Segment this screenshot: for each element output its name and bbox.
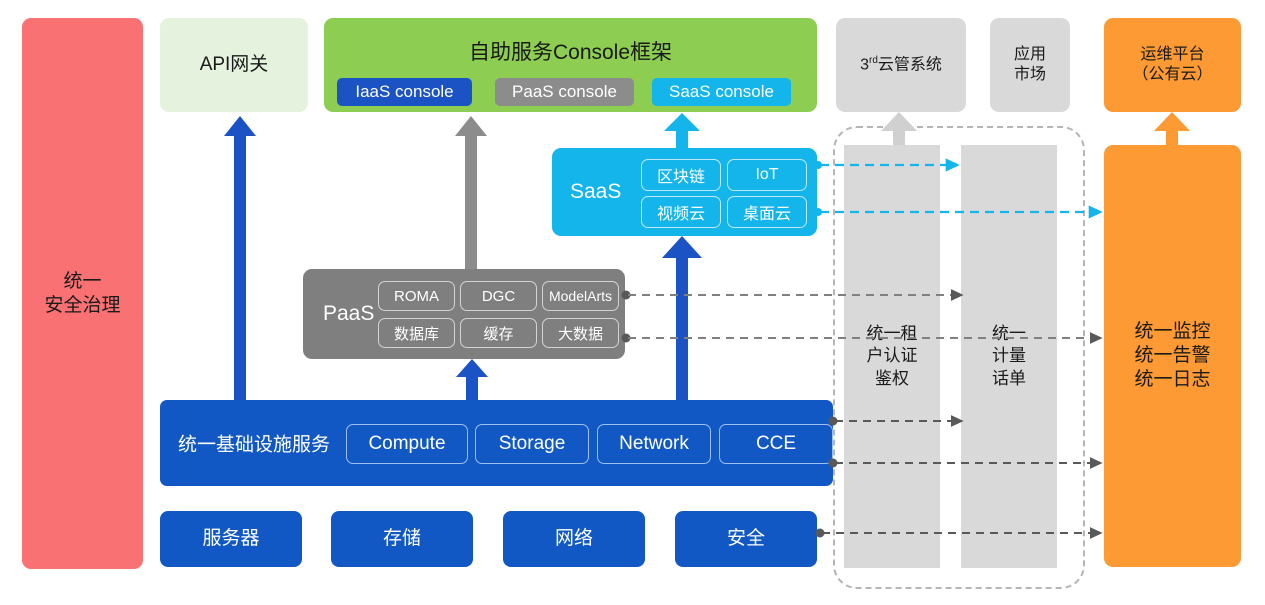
unified-tenant-auth-label: 统一租 户认证 鉴权 (867, 323, 918, 389)
arrow-saas-to-console (664, 113, 700, 148)
console-chip-iaas-label: IaaS console (355, 82, 453, 102)
iaas-chip-compute[interactable]: Compute (346, 424, 468, 464)
unified-infrastructure-bar: 统一基础设施服务 Compute Storage Network CCE (160, 400, 833, 486)
paas-chip-database[interactable]: 数据库 (378, 318, 455, 348)
saas-chip-video-cloud-label: 视频云 (657, 200, 705, 224)
superscript-rd: rd (869, 55, 878, 66)
console-chip-paas-label: PaaS console (512, 82, 617, 102)
unified-monitoring-column: 统一监控 统一告警 统一日志 (1104, 145, 1241, 567)
iaas-chip-storage[interactable]: Storage (475, 424, 589, 464)
saas-chip-iot[interactable]: IoT (727, 159, 807, 191)
app-market-box: 应用 市场 (990, 18, 1070, 112)
saas-chip-desktop-cloud[interactable]: 桌面云 (727, 196, 807, 228)
console-chip-paas[interactable]: PaaS console (495, 78, 634, 106)
saas-box: SaaS 区块链 IoT 视频云 桌面云 (552, 148, 817, 236)
saas-chip-video-cloud[interactable]: 视频云 (641, 196, 721, 228)
saas-chip-desktop-cloud-label: 桌面云 (743, 200, 791, 224)
third-party-cloud-mgmt-box: 3rd云管系统 (836, 18, 966, 112)
paas-chip-roma-label: ROMA (394, 288, 439, 305)
api-gateway-label: API网关 (200, 53, 269, 77)
hardware-box-server-label: 服务器 (202, 527, 259, 551)
iaas-chip-cce[interactable]: CCE (719, 424, 833, 464)
paas-chip-modelarts-label: ModelArts (549, 288, 612, 304)
arrow-iaas-to-api-gateway (224, 116, 256, 400)
arrow-iaas-to-saas (662, 236, 702, 400)
self-service-console-frame: 自助服务Console框架 IaaS console PaaS console … (324, 18, 817, 112)
console-frame-title: 自助服务Console框架 (324, 36, 817, 66)
hardware-box-storage-label: 存储 (383, 527, 421, 551)
paas-chip-modelarts[interactable]: ModelArts (542, 281, 619, 311)
paas-label: PaaS (323, 302, 374, 326)
unified-security-column: 统一 安全治理 (22, 18, 143, 569)
console-chip-saas-label: SaaS console (669, 82, 774, 102)
unified-infrastructure-label: 统一基础设施服务 (178, 430, 330, 457)
paas-chip-dgc-label: DGC (482, 288, 515, 305)
paas-chip-cache[interactable]: 缓存 (460, 318, 537, 348)
paas-chip-dgc[interactable]: DGC (460, 281, 537, 311)
ops-platform-box: 运维平台 （公有云） (1104, 18, 1241, 112)
arrow-ops-column-to-ops-platform (1154, 112, 1190, 145)
iaas-chip-network[interactable]: Network (597, 424, 711, 464)
paas-chip-database-label: 数据库 (394, 323, 439, 344)
saas-chip-blockchain[interactable]: 区块链 (641, 159, 721, 191)
paas-chip-bigdata[interactable]: 大数据 (542, 318, 619, 348)
paas-chip-cache-label: 缓存 (483, 323, 513, 344)
api-gateway-box: API网关 (160, 18, 308, 112)
hardware-box-network-label: 网络 (555, 527, 593, 551)
unified-security-label: 统一 安全治理 (44, 270, 120, 318)
app-market-label: 应用 市场 (1014, 45, 1046, 85)
unified-metering-column: 统一 计量 话单 (961, 145, 1057, 568)
iaas-chip-compute-label: Compute (368, 433, 445, 455)
iaas-chip-storage-label: Storage (499, 433, 566, 455)
saas-chip-blockchain-label: 区块链 (657, 163, 705, 187)
console-chip-saas[interactable]: SaaS console (652, 78, 791, 106)
paas-chip-roma[interactable]: ROMA (378, 281, 455, 311)
iaas-chip-network-label: Network (619, 433, 689, 455)
unified-metering-label: 统一 计量 话单 (992, 323, 1026, 389)
iaas-chip-cce-label: CCE (756, 433, 796, 455)
unified-tenant-auth-column: 统一租 户认证 鉴权 (844, 145, 940, 568)
hardware-box-storage: 存储 (331, 511, 473, 567)
unified-monitoring-label: 统一监控 统一告警 统一日志 (1134, 320, 1210, 391)
hardware-box-server: 服务器 (160, 511, 302, 567)
ops-platform-label: 运维平台 （公有云） (1132, 45, 1212, 85)
hardware-box-security: 安全 (675, 511, 817, 567)
third-party-cloud-mgmt-label: 3rd云管系统 (860, 55, 942, 75)
paas-box: PaaS ROMA DGC ModelArts 数据库 缓存 大数据 (303, 269, 625, 359)
paas-chip-bigdata-label: 大数据 (558, 323, 603, 344)
saas-label: SaaS (570, 180, 621, 204)
architecture-diagram: 统一 安全治理 API网关 自助服务Console框架 IaaS console… (0, 0, 1265, 605)
saas-chip-iot-label: IoT (755, 166, 778, 184)
console-chip-iaas[interactable]: IaaS console (337, 78, 472, 106)
hardware-box-security-label: 安全 (727, 527, 765, 551)
arrow-paas-to-console (455, 116, 487, 269)
arrow-iaas-to-paas (456, 359, 488, 400)
hardware-box-network: 网络 (503, 511, 645, 567)
